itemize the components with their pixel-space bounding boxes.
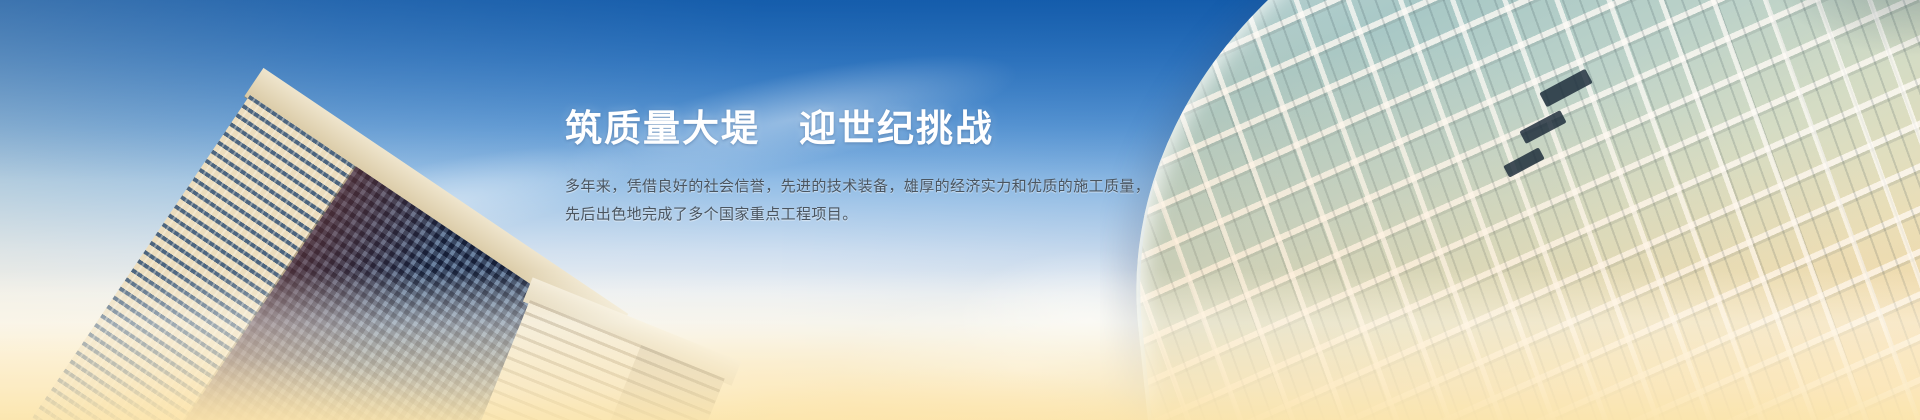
hero-banner: 筑质量大堤 迎世纪挑战 多年来，凭借良好的社会信誉，先进的技术装备，雄厚的经济实…	[0, 0, 1920, 420]
banner-paragraph-line-2: 先后出色地完成了多个国家重点工程项目。	[565, 201, 1185, 229]
banner-headline: 筑质量大堤 迎世纪挑战	[565, 108, 1185, 151]
banner-paragraph: 多年来，凭借良好的社会信誉，先进的技术装备，雄厚的经济实力和优质的施工质量， 先…	[565, 173, 1185, 229]
banner-paragraph-line-1: 多年来，凭借良好的社会信誉，先进的技术装备，雄厚的经济实力和优质的施工质量，	[565, 173, 1185, 201]
banner-text-block: 筑质量大堤 迎世纪挑战 多年来，凭借良好的社会信誉，先进的技术装备，雄厚的经济实…	[565, 108, 1185, 229]
